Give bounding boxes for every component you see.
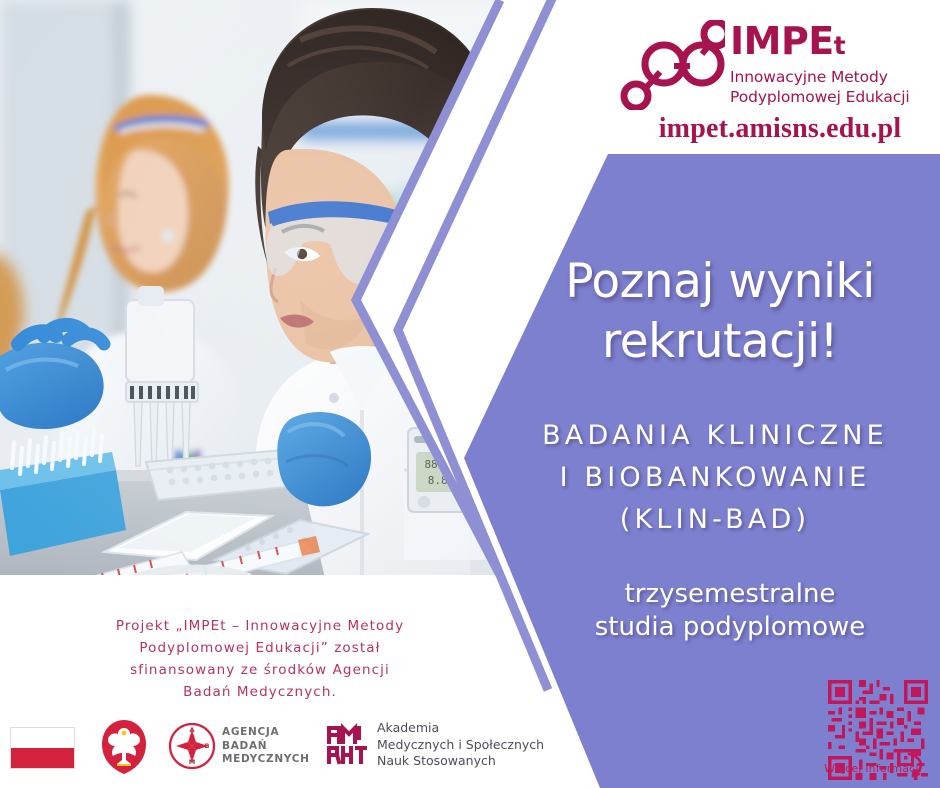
amsns-line2: Medycznych i Społecznych	[377, 737, 544, 754]
disclaimer-line2: Podyplomowej Edukacji” został	[55, 637, 465, 659]
amsns-name: Akademia Medycznych i Społecznych Nauk S…	[377, 720, 544, 770]
amsns-line1: Akademia	[377, 720, 544, 737]
amsns-logo: Akademia Medycznych i Społecznych Nauk S…	[325, 720, 555, 772]
abm-name: AGENCJA BADAŃ MEDYCZNYCH	[222, 726, 310, 767]
flag-red-stripe	[11, 748, 74, 768]
logo-wordmark-main: IMPE	[730, 19, 834, 63]
subtitle-line2: studia podyplomowe	[520, 611, 940, 644]
molecule-icon	[620, 20, 725, 110]
course-line2: I BIOBANKOWANIE	[490, 457, 940, 499]
amsns-emblem-icon	[325, 722, 369, 768]
flag-white-stripe	[11, 728, 74, 748]
poster-canvas: 88:88 8.88	[0, 0, 940, 788]
website-url[interactable]: impet.amisns.edu.pl	[620, 113, 940, 145]
logo-wordmark-suffix: t	[834, 31, 845, 60]
logo-wordmark: IMPEt	[730, 22, 940, 65]
course-subtitle: trzysemestralne studia podyplomowe	[520, 578, 940, 644]
footer-logos: A B M AGENCJA BADAŃ MEDYCZNYCH	[0, 700, 620, 788]
disclaimer-line1: Projekt „IMPEt – Innowacyjne Metody	[55, 615, 465, 637]
subtitle-line1: trzysemestralne	[520, 578, 940, 611]
course-line3: (KLIN-BAD)	[490, 499, 940, 541]
abm-line3: MEDYCZNYCH	[222, 753, 310, 767]
abm-line2: BADAŃ	[222, 740, 310, 754]
headline-line1: Poznaj wyniki	[500, 252, 940, 312]
amsns-line3: Nauk Stosowanych	[377, 753, 544, 770]
logo-tagline-line2: Podyplomowej Edukacji	[730, 87, 940, 107]
logo-tagline: Innowacyjne Metody Podyplomowej Edukacji	[730, 67, 940, 107]
abm-line1: AGENCJA	[222, 726, 310, 740]
impet-logo: IMPEt Innowacyjne Metody Podyplomowej Ed…	[620, 18, 940, 118]
disclaimer-line3: sfinansowany ze środków Agencji	[55, 659, 465, 681]
svg-text:A: A	[189, 726, 194, 734]
abm-emblem-icon: A B M	[168, 722, 216, 770]
svg-text:M: M	[189, 758, 195, 766]
abm-logo: A B M AGENCJA BADAŃ MEDYCZNYCH	[168, 722, 313, 770]
poland-flag-icon	[10, 727, 75, 769]
poland-emblem-icon	[100, 718, 148, 776]
curved-arrow-icon	[905, 752, 929, 780]
svg-text:B: B	[205, 742, 210, 750]
headline-line2: rekrutacji!	[500, 312, 940, 372]
headline: Poznaj wyniki rekrutacji!	[500, 252, 940, 372]
logo-tagline-line1: Innowacyjne Metody	[730, 67, 940, 87]
course-name: BADANIA KLINICZNE I BIOBANKOWANIE (KLIN-…	[490, 415, 940, 541]
funding-disclaimer: Projekt „IMPEt – Innowacyjne Metody Pody…	[55, 615, 465, 703]
course-line1: BADANIA KLINICZNE	[490, 415, 940, 457]
